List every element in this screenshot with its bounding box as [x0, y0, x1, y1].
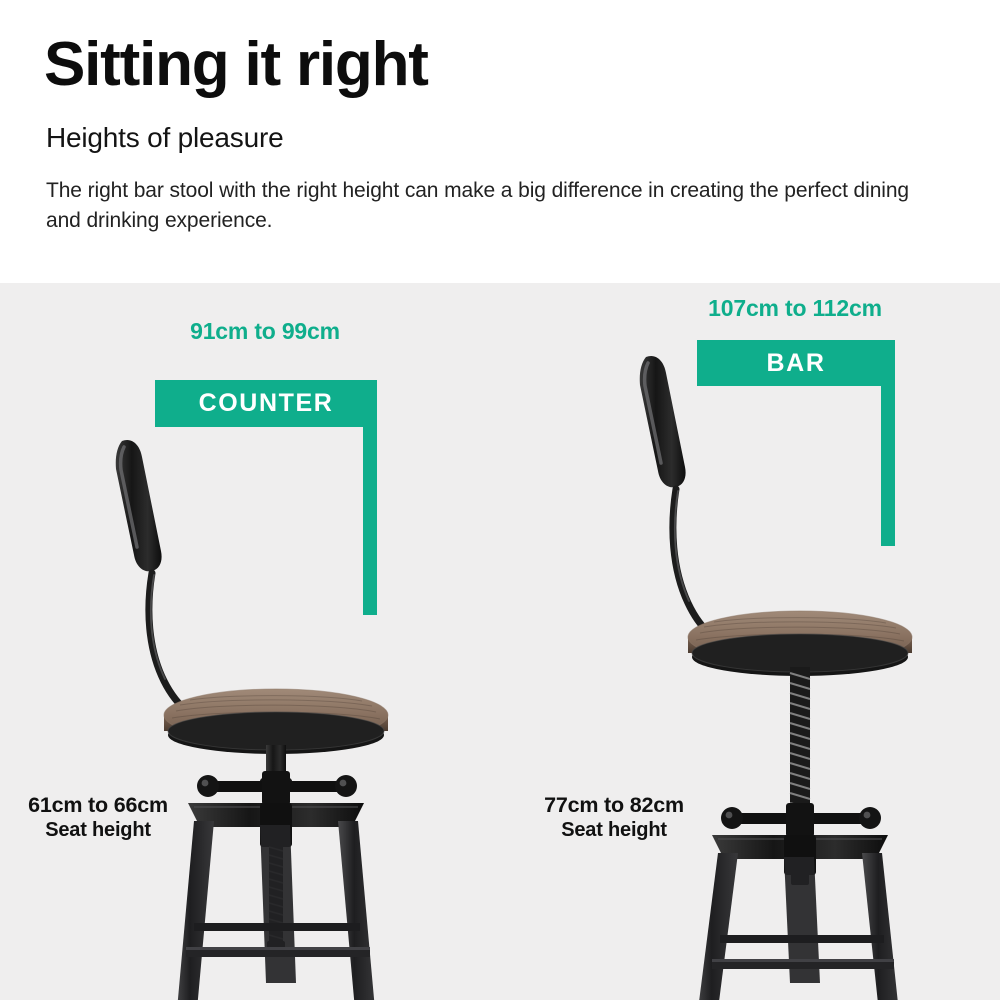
page-subtitle: Heights of pleasure — [46, 122, 283, 154]
counter-bracket-bar: COUNTER — [155, 380, 377, 427]
bar-bracket-leg — [881, 386, 895, 546]
threaded-riser-column — [790, 667, 810, 817]
bar-bracket-bar: BAR — [697, 340, 895, 386]
counter-seat-label: Seat height — [8, 818, 188, 842]
height-adjust-handle — [721, 803, 881, 837]
wooden-seat — [688, 611, 912, 676]
counter-bracket: COUNTER — [155, 380, 377, 620]
counter-bracket-leg — [363, 427, 377, 615]
tripod-legs — [172, 821, 380, 1000]
wooden-seat — [164, 689, 388, 754]
bar-range-label: 107cm to 112cm — [690, 295, 900, 322]
counter-range-label: 91cm to 99cm — [155, 318, 375, 345]
height-adjust-handle — [197, 771, 357, 805]
counter-seat-height-caption: 61cm to 66cm Seat height — [8, 792, 188, 843]
header-section: Sitting it right Heights of pleasure The… — [0, 0, 1000, 283]
counter-bracket-label: COUNTER — [199, 389, 334, 418]
page-description: The right bar stool with the right heigh… — [46, 176, 946, 237]
bar-bracket: BAR — [697, 340, 895, 550]
page-title: Sitting it right — [44, 34, 428, 96]
tripod-legs — [692, 853, 904, 1000]
bar-seat-label: Seat height — [524, 818, 704, 842]
bar-seat-height-caption: 77cm to 82cm Seat height — [524, 792, 704, 843]
bar-seat-range: 77cm to 82cm — [524, 792, 704, 818]
counter-seat-range: 61cm to 66cm — [8, 792, 188, 818]
illustration-stage: 91cm to 99cm COUNTER 107cm to 112cm BAR … — [0, 283, 1000, 1000]
infographic-page: Sitting it right Heights of pleasure The… — [0, 0, 1000, 1000]
bar-bracket-label: BAR — [767, 349, 826, 378]
